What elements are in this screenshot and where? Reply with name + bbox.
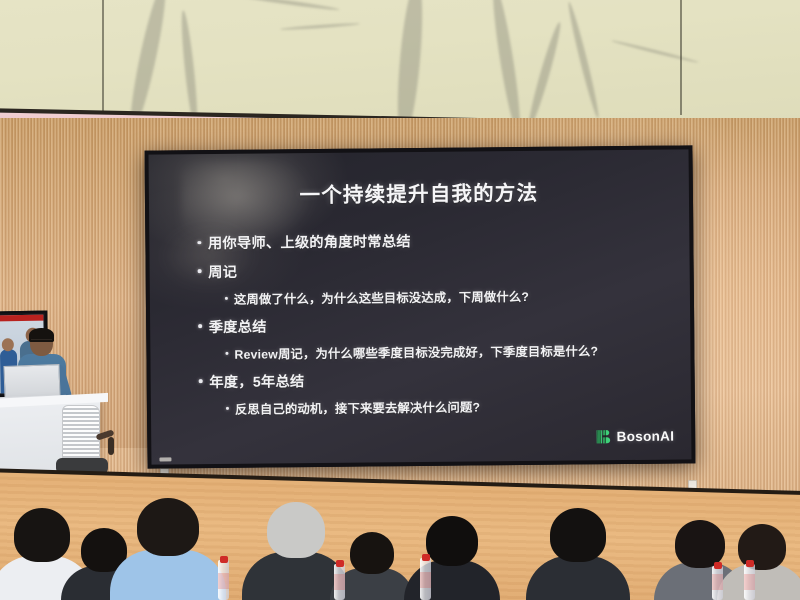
list-item: 这周做了什么，为什么这些目标没达成，下周做什么? <box>198 286 664 308</box>
water-bottle-cap <box>746 560 754 567</box>
list-item: 季度总结 <box>198 312 664 336</box>
bullet-text: 季度总结 <box>209 316 267 337</box>
conference-hall-photo: 一个持续提升自我的方法 用你导师、上级的角度时常总结 周记 这周做了什么，为什么… <box>0 0 800 600</box>
screen-indicator-led <box>159 457 171 461</box>
list-item: Review周记，为什么哪些季度目标没完成好，下季度目标是什么? <box>198 341 664 363</box>
audience-member-head <box>426 516 478 566</box>
bullet-text: 周记 <box>208 261 237 281</box>
water-bottle-label <box>744 574 755 590</box>
boson-logo-icon <box>597 429 612 444</box>
bullet-dot-icon <box>225 297 228 300</box>
audience-member-head <box>14 508 70 562</box>
bullet-text: 这周做了什么，为什么这些目标没达成，下周做什么? <box>234 287 529 308</box>
list-item: 周记 <box>198 257 664 281</box>
office-chair-backrest <box>62 405 100 463</box>
screen-surface: 一个持续提升自我的方法 用你导师、上级的角度时常总结 周记 这周做了什么，为什么… <box>149 149 692 464</box>
audience-member-head <box>350 532 394 574</box>
office-chair-armrest-post <box>108 437 114 455</box>
ceiling-marble-panels <box>0 0 800 125</box>
bullet-dot-icon <box>198 324 202 328</box>
water-bottle-label <box>712 574 723 590</box>
presentation-screen: 一个持续提升自我的方法 用你导师、上级的角度时常总结 周记 这周做了什么，为什么… <box>144 145 695 468</box>
audience-member-head <box>550 508 606 562</box>
water-bottle-label <box>420 572 431 588</box>
bullet-dot-icon <box>198 269 202 273</box>
slide-title: 一个持续提升自我的方法 <box>175 175 663 210</box>
water-bottle-cap <box>336 560 344 567</box>
slide-content: 一个持续提升自我的方法 用你导师、上级的角度时常总结 周记 这周做了什么，为什么… <box>149 149 692 464</box>
bullet-text: 年度，5年总结 <box>209 371 304 392</box>
laptop-screen <box>3 364 60 399</box>
bullet-dot-icon <box>197 241 201 245</box>
audience-member-head <box>137 498 199 556</box>
brand-logo: BosonAI <box>597 429 675 445</box>
list-item: 年度，5年总结 <box>199 367 665 391</box>
water-bottle-cap <box>714 562 722 569</box>
water-bottle-cap <box>422 554 430 561</box>
glasses-icon <box>31 339 52 343</box>
water-bottle-cap <box>220 556 228 563</box>
bullet-dot-icon <box>226 407 229 410</box>
bullet-text: 反思自己的动机，接下来要去解决什么问题? <box>235 397 480 417</box>
audience-member-head <box>267 502 325 558</box>
audience-member-shoulders <box>110 550 226 600</box>
bullet-dot-icon <box>225 352 228 355</box>
list-item: 反思自己的动机，接下来要去解决什么问题? <box>199 396 665 418</box>
bullet-text: Review周记，为什么哪些季度目标没完成好，下季度目标是什么? <box>234 341 598 362</box>
slide-bullet-list: 用你导师、上级的角度时常总结 周记 这周做了什么，为什么这些目标没达成，下周做什… <box>175 229 665 419</box>
audience-member-head <box>675 520 725 568</box>
water-bottle-label <box>334 574 345 590</box>
bullet-dot-icon <box>199 379 203 383</box>
bullet-text: 用你导师、上级的角度时常总结 <box>208 231 411 253</box>
water-bottle-label <box>218 573 229 589</box>
brand-name: BosonAI <box>617 429 675 445</box>
list-item: 用你导师、上级的角度时常总结 <box>197 229 663 253</box>
